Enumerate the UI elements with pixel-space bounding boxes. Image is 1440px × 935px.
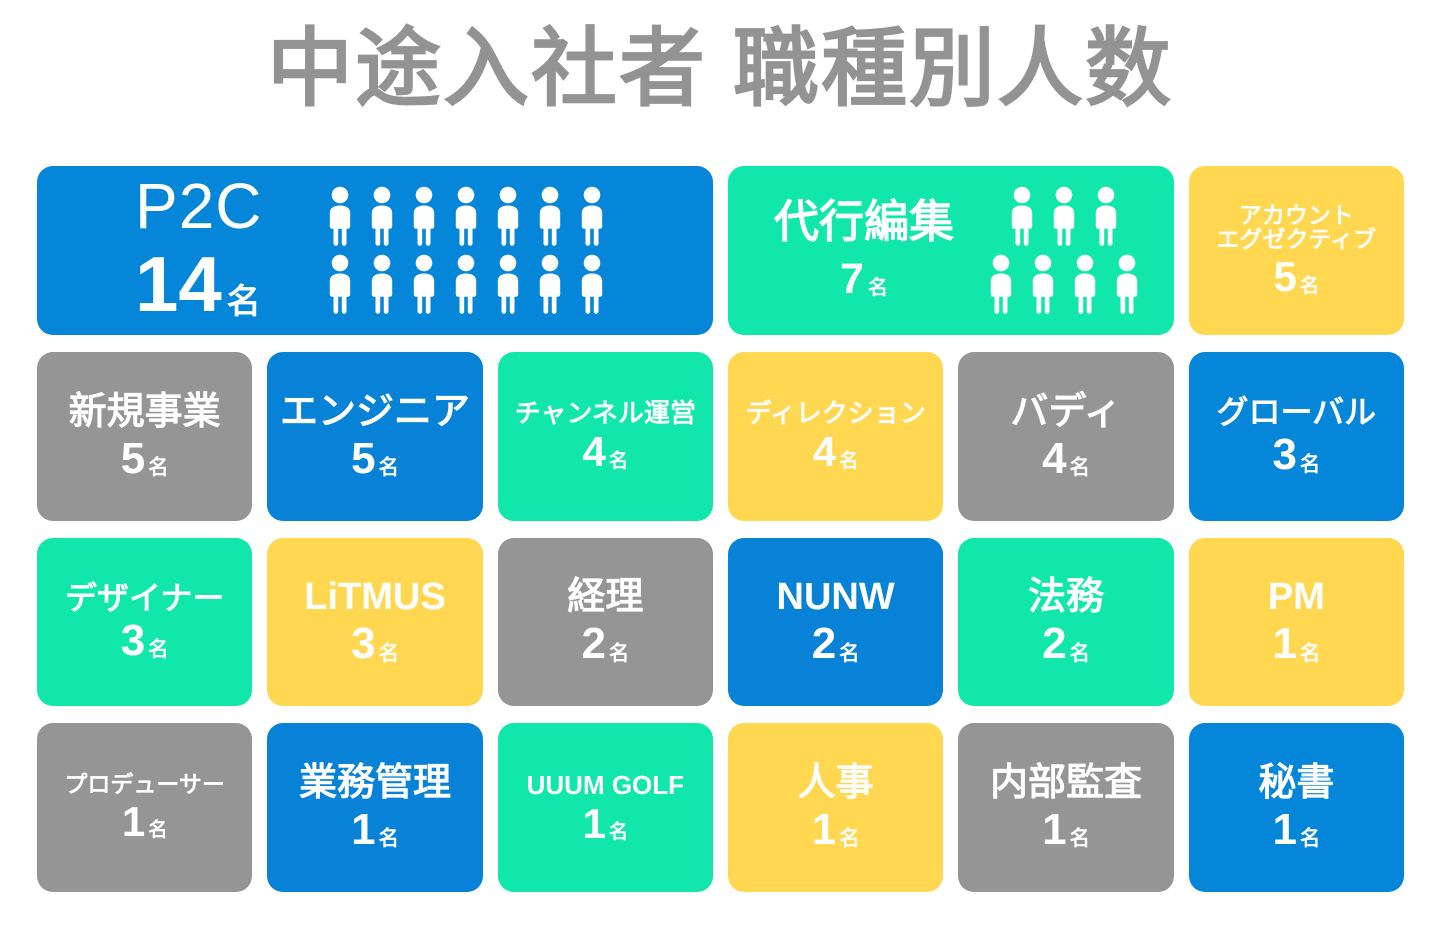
card-ae-count-value: 5 [1273,256,1296,298]
card-uuum-golf[interactable]: UUUM GOLF 1 名 [498,723,713,892]
card-keiri-label: 経理 [567,577,643,618]
card-daiko-henshu[interactable]: 代行編集 7 名 [728,166,1174,335]
infographic-root: 中途入社者 職種別人数 P2C 14 名 [0,0,1440,935]
card-litmus-label: LiTMUS [304,577,445,618]
card-shinki-count-value: 5 [121,437,145,481]
card-p2c-label: P2C [135,174,263,238]
person-icon [1110,254,1144,314]
card-buddy-label: バディ [1010,392,1121,433]
card-pm-count: 1 名 [1272,622,1320,666]
card-hisho-count: 1 名 [1272,808,1320,852]
card-direction-count-value: 4 [813,431,836,473]
person-icon [1068,254,1102,314]
person-icon [1026,254,1060,314]
card-keiri-count-unit: 名 [609,644,629,664]
card-naibukansa-inner: 内部監査 1 名 [958,759,1173,856]
card-litmus-count-value: 3 [351,622,375,666]
card-channel-count-value: 4 [582,431,605,473]
person-icon [323,254,357,314]
person-icon [575,186,609,246]
card-pm-count-unit: 名 [1300,644,1320,664]
pictogram-row [323,186,609,246]
card-keiri-count-value: 2 [581,622,605,666]
card-p2c-count-unit: 名 [227,285,261,321]
card-shinki-count-unit: 名 [148,458,168,478]
card-ae-label-line2: エグゼクティブ [1217,227,1377,252]
card-global[interactable]: グローバル 3 名 [1189,352,1404,521]
card-p2c-count-value: 14 [135,244,222,326]
card-ae-count: 5 名 [1273,256,1319,298]
card-hisho[interactable]: 秘書 1 名 [1189,723,1404,892]
card-buddy-count: 4 名 [1042,437,1090,481]
card-engineer-count-unit: 名 [379,458,399,478]
card-gyomu-label: 業務管理 [299,763,451,804]
person-icon [491,186,525,246]
card-daiko-count: 7 名 [840,258,888,301]
card-producer[interactable]: プロデューサー 1 名 [37,723,252,892]
person-icon [575,254,609,314]
card-pm-inner: PM 1 名 [1189,573,1404,670]
person-icon [533,186,567,246]
card-shinki-jigyo[interactable]: 新規事業 5 名 [37,352,252,521]
card-designer-count-value: 3 [121,619,145,663]
person-icon [407,186,441,246]
card-gyomu-count-value: 1 [351,808,375,852]
person-icon [365,186,399,246]
card-naibukansa-label: 内部監査 [990,763,1142,804]
card-direction-count-unit: 名 [839,452,858,471]
card-litmus[interactable]: LiTMUS 3 名 [267,538,482,707]
card-engineer-inner: エンジニア 5 名 [267,388,482,485]
card-naibukansa-count: 1 名 [1042,808,1090,852]
card-houmu-label: 法務 [1028,577,1104,618]
person-icon [984,254,1018,314]
card-gyomu-kanri[interactable]: 業務管理 1 名 [267,723,482,892]
card-producer-count-value: 1 [122,801,145,843]
card-daiko-pictogram [984,186,1144,314]
card-direction-inner: ディレクション 4 名 [728,395,943,477]
pictogram-row [984,186,1144,246]
card-daiko-count-unit: 名 [868,278,888,298]
card-jinji[interactable]: 人事 1 名 [728,723,943,892]
card-nunw-count-value: 2 [812,622,836,666]
card-engineer-count: 5 名 [351,437,399,481]
card-designer-count-unit: 名 [148,640,168,660]
card-hisho-count-value: 1 [1272,808,1296,852]
person-icon [1089,186,1123,246]
card-global-count-value: 3 [1272,433,1296,477]
person-icon [491,254,525,314]
card-hisho-count-unit: 名 [1300,829,1320,849]
card-producer-inner: プロデューサー 1 名 [37,768,252,847]
card-uuumgolf-label: UUUM GOLF [527,771,684,799]
card-direction-label: ディレクション [746,399,926,427]
card-uuumgolf-count: 1 名 [582,803,628,845]
card-channel-count-unit: 名 [609,452,628,471]
card-channel-inner: チャンネル運営 4 名 [498,395,713,477]
card-global-count-unit: 名 [1300,455,1320,475]
card-designer-count: 3 名 [121,619,169,663]
card-nunw-label: NUNW [777,577,895,618]
card-engineer-count-value: 5 [351,437,375,481]
card-global-inner: グローバル 3 名 [1189,391,1404,482]
card-houmu-count: 2 名 [1042,622,1090,666]
person-icon [449,186,483,246]
card-houmu-count-value: 2 [1042,622,1066,666]
card-global-count: 3 名 [1272,433,1320,477]
person-icon [365,254,399,314]
person-icon [449,254,483,314]
card-pm-label: PM [1268,577,1325,618]
card-p2c-pictogram [323,186,609,314]
card-houmu[interactable]: 法務 2 名 [958,538,1173,707]
card-global-label: グローバル [1216,395,1376,430]
card-naibu-kansa[interactable]: 内部監査 1 名 [958,723,1173,892]
card-gyomu-count-unit: 名 [379,829,399,849]
card-jinji-count-unit: 名 [839,829,859,849]
card-litmus-count: 3 名 [351,622,399,666]
card-designer[interactable]: デザイナー 3 名 [37,538,252,707]
card-ae-count-unit: 名 [1300,277,1319,296]
card-houmu-count-unit: 名 [1070,644,1090,664]
person-icon [1047,186,1081,246]
card-litmus-count-unit: 名 [379,644,399,664]
card-houmu-inner: 法務 2 名 [958,573,1173,670]
card-pm[interactable]: PM 1 名 [1189,538,1404,707]
card-jinji-count: 1 名 [812,808,860,852]
card-channel-label: チャンネル運営 [515,399,696,427]
card-designer-inner: デザイナー 3 名 [37,577,252,668]
card-designer-label: デザイナー [65,581,224,616]
card-engineer-label: エンジニア [280,392,470,433]
card-direction[interactable]: ディレクション 4 名 [728,352,943,521]
card-daiko-text: 代行編集 7 名 [774,199,954,301]
card-jinji-inner: 人事 1 名 [728,759,943,856]
person-icon [407,254,441,314]
card-buddy[interactable]: バディ 4 名 [958,352,1173,521]
card-shinki-inner: 新規事業 5 名 [37,388,252,485]
card-shinki-label: 新規事業 [69,392,221,433]
card-uuumgolf-count-value: 1 [582,803,605,845]
card-litmus-inner: LiTMUS 3 名 [267,573,482,670]
card-buddy-count-value: 4 [1042,437,1066,481]
card-uuumgolf-count-unit: 名 [609,823,628,842]
card-channel-unei[interactable]: チャンネル運営 4 名 [498,352,713,521]
person-icon [1005,186,1039,246]
person-icon [533,254,567,314]
card-jinji-count-value: 1 [812,808,836,852]
card-naibukansa-count-unit: 名 [1070,829,1090,849]
person-icon [323,186,357,246]
card-nunw-count: 2 名 [812,622,860,666]
card-producer-count: 1 名 [122,801,168,843]
card-p2c-count: 14 名 [135,244,261,326]
card-ae-inner: アカウント エグゼクティブ 5 名 [1189,199,1404,303]
card-shinki-count: 5 名 [121,437,169,481]
card-nunw-count-unit: 名 [839,644,859,664]
card-direction-count: 4 名 [813,431,859,473]
card-gyomu-inner: 業務管理 1 名 [267,759,482,856]
card-producer-label: プロデューサー [64,772,225,797]
pictogram-row [323,254,609,314]
page-title: 中途入社者 職種別人数 [0,22,1440,117]
card-keiri[interactable]: 経理 2 名 [498,538,713,707]
card-pm-count-value: 1 [1272,622,1296,666]
card-engineer[interactable]: エンジニア 5 名 [267,352,482,521]
card-buddy-inner: バディ 4 名 [958,388,1173,485]
card-buddy-count-unit: 名 [1070,458,1090,478]
card-keiri-count: 2 名 [581,622,629,666]
card-nunw[interactable]: NUNW 2 名 [728,538,943,707]
card-channel-count: 4 名 [582,431,628,473]
card-producer-count-unit: 名 [148,821,167,840]
card-account-executive[interactable]: アカウント エグゼクティブ 5 名 [1189,166,1404,335]
category-card-grid: P2C 14 名 [37,166,1404,892]
pictogram-row [984,254,1144,314]
card-uuumgolf-inner: UUUM GOLF 1 名 [498,767,713,849]
card-keiri-inner: 経理 2 名 [498,573,713,670]
card-daiko-count-value: 7 [840,258,864,301]
card-jinji-label: 人事 [798,763,874,804]
card-nunw-inner: NUNW 2 名 [728,573,943,670]
card-hisho-label: 秘書 [1258,763,1334,804]
card-p2c-text: P2C 14 名 [135,174,263,326]
card-gyomu-count: 1 名 [351,808,399,852]
card-ae-label-line1: アカウント [1239,203,1354,228]
card-p2c[interactable]: P2C 14 名 [37,166,713,335]
card-naibukansa-count-value: 1 [1042,808,1066,852]
card-hisho-inner: 秘書 1 名 [1189,759,1404,856]
card-daiko-label: 代行編集 [774,199,954,244]
